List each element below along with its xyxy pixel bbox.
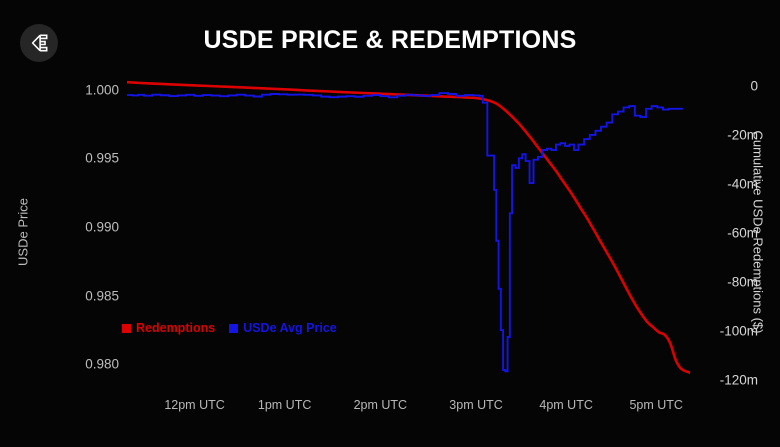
legend-item-redemptions[interactable]: Redemptions	[122, 321, 215, 335]
right-axis-tick: -100m	[698, 324, 758, 339]
left-axis-title: USDe Price	[16, 198, 31, 266]
right-axis-tick: -20m	[698, 128, 758, 143]
right-axis-tick: 0	[698, 79, 758, 94]
left-axis-tick: 1.000	[59, 82, 119, 97]
left-axis-tick: 0.985	[59, 288, 119, 303]
legend-label-redemptions: Redemptions	[136, 321, 215, 335]
right-axis-tick: -120m	[698, 373, 758, 388]
x-axis-tick: 12pm UTC	[164, 398, 224, 412]
right-axis-tick: -60m	[698, 226, 758, 241]
left-axis-tick: 0.990	[59, 220, 119, 235]
x-axis-tick: 2pm UTC	[354, 398, 407, 412]
x-axis-tick: 4pm UTC	[539, 398, 592, 412]
right-axis-tick: -80m	[698, 275, 758, 290]
legend-swatch-usde-avg-price	[229, 324, 238, 333]
left-axis-tick: 0.980	[59, 357, 119, 372]
legend-item-usde-avg-price[interactable]: USDe Avg Price	[229, 321, 337, 335]
left-axis-tick: 0.995	[59, 151, 119, 166]
chart-legend: Redemptions USDe Avg Price	[122, 321, 337, 335]
x-axis-tick: 1pm UTC	[258, 398, 311, 412]
legend-swatch-redemptions	[122, 324, 131, 333]
legend-label-usde-avg-price: USDe Avg Price	[243, 321, 337, 335]
page-title: USDE PRICE & REDEMPTIONS	[0, 26, 780, 55]
chart-root: USDE PRICE & REDEMPTIONS USDe Price Cumu…	[0, 0, 780, 447]
plot-area	[127, 80, 690, 385]
right-axis-tick: -40m	[698, 177, 758, 192]
x-axis-tick: 3pm UTC	[449, 398, 502, 412]
x-axis-tick: 5pm UTC	[629, 398, 682, 412]
